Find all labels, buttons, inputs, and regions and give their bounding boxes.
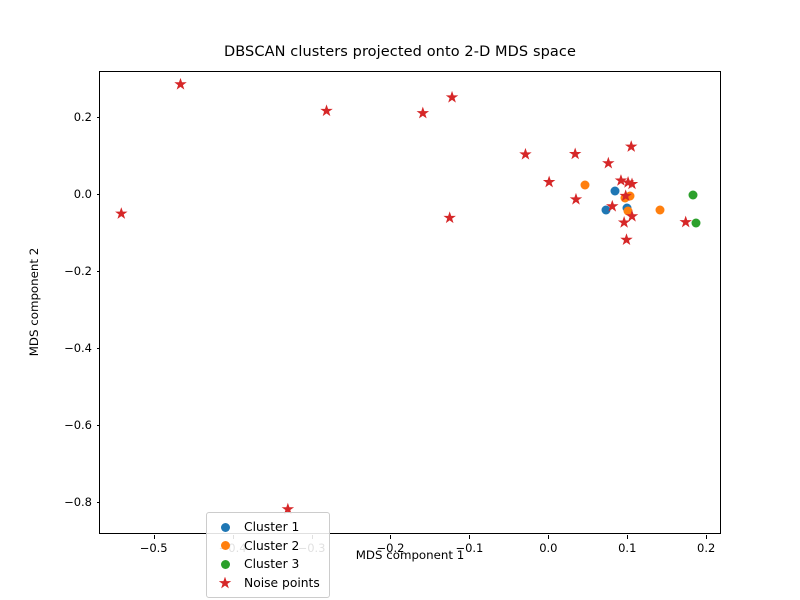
legend-label-cluster-1: Cluster 1 — [236, 520, 299, 534]
y-tick — [97, 117, 101, 118]
x-tick — [154, 535, 155, 539]
x-tick — [548, 535, 549, 539]
scatter-point — [443, 211, 456, 224]
scatter-point — [416, 107, 429, 120]
scatter-point — [618, 216, 631, 229]
plot-area: −0.5−0.4−0.3−0.2−0.10.00.10.20.20.0−0.2−… — [99, 71, 721, 534]
x-tick — [469, 535, 470, 539]
scatter-points-layer — [100, 72, 720, 533]
scatter-point — [655, 205, 664, 214]
y-tick-label: 0.0 — [74, 187, 92, 201]
legend-marker-noise-star-icon — [214, 577, 236, 590]
y-tick-label: −0.4 — [64, 341, 92, 355]
y-tick-label: −0.8 — [64, 495, 92, 509]
legend-item-cluster-1: Cluster 1 — [214, 518, 320, 537]
scatter-point — [620, 233, 633, 246]
scatter-point — [691, 219, 700, 228]
scatter-point — [115, 207, 128, 220]
x-tick — [390, 535, 391, 539]
scatter-point — [625, 140, 638, 153]
scatter-point — [688, 191, 697, 200]
scatter-point — [174, 78, 187, 91]
scatter-point — [569, 147, 582, 160]
x-axis-label: MDS component 1 — [99, 548, 721, 562]
legend-label-noise-points: Noise points — [236, 576, 320, 590]
x-tick — [706, 535, 707, 539]
scatter-point — [611, 186, 620, 195]
y-axis-label-wrap: MDS component 2 — [38, 0, 39, 600]
y-tick — [97, 271, 101, 272]
scatter-point — [602, 157, 615, 170]
scatter-point — [581, 181, 590, 190]
page-title: DBSCAN clusters projected onto 2-D MDS s… — [0, 44, 800, 60]
legend-marker-cluster-1-icon — [214, 523, 236, 532]
scatter-point — [543, 176, 556, 189]
scatter-point — [320, 104, 333, 117]
scatter-point — [446, 91, 459, 104]
y-axis-label: MDS component 2 — [27, 248, 41, 357]
y-tick — [97, 348, 101, 349]
scatter-point — [519, 148, 532, 161]
scatter-point — [569, 193, 582, 206]
matplotlib-figure: DBSCAN clusters projected onto 2-D MDS s… — [0, 0, 800, 600]
y-tick — [97, 502, 101, 503]
y-tick-label: −0.6 — [64, 418, 92, 432]
y-tick — [97, 425, 101, 426]
y-tick-label: 0.2 — [74, 110, 92, 124]
x-tick — [627, 535, 628, 539]
legend-item-noise-points: Noise points — [214, 574, 320, 593]
y-tick-label: −0.2 — [64, 264, 92, 278]
y-tick — [97, 194, 101, 195]
scatter-point — [679, 216, 692, 229]
